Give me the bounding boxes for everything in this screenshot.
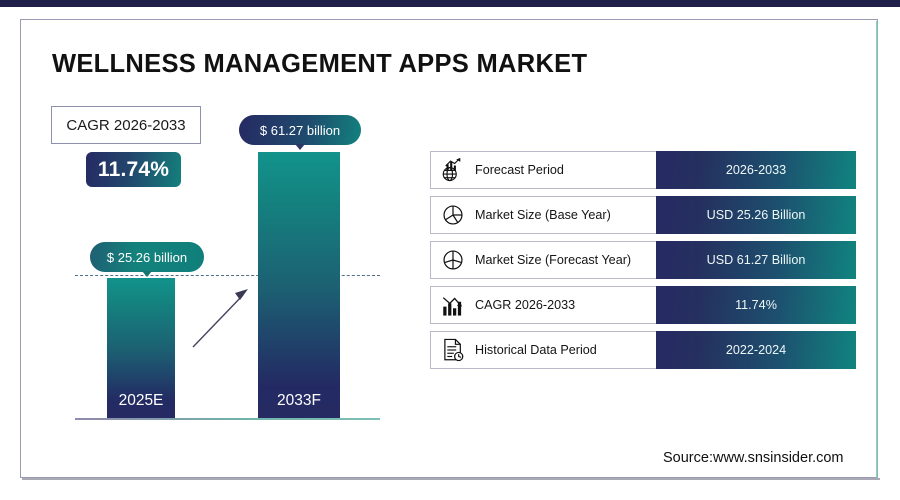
table-row: Forecast Period 2026-2033 [430, 151, 856, 189]
cagr-value-text: 11.74% [98, 158, 169, 182]
bar-label-2033f: 2033F [258, 392, 340, 410]
frame-bottom-shadow [22, 478, 880, 480]
table-row-value: USD 61.27 Billion [656, 241, 856, 279]
globe-growth-icon [440, 157, 466, 183]
table-row-label-cell: Market Size (Forecast Year) [431, 242, 656, 278]
value-pill-2025e-text: $ 25.26 billion [107, 250, 187, 265]
table-row-label: Forecast Period [475, 163, 564, 177]
table-row-label-cell: Historical Data Period [431, 332, 656, 368]
growth-arrow-icon [185, 283, 257, 353]
table-row-label: Historical Data Period [475, 343, 597, 357]
table-row-label-cell: CAGR 2026-2033 [431, 287, 656, 323]
cagr-label-text: CAGR 2026-2033 [66, 117, 185, 134]
chart-baseline-axis [75, 418, 380, 420]
table-row-value: 11.74% [656, 286, 856, 324]
table-row-value: 2026-2033 [656, 151, 856, 189]
table-row-label-cell: Forecast Period [431, 152, 656, 188]
cagr-label-box: CAGR 2026-2033 [51, 106, 201, 144]
table-row-label-cell: Market Size (Base Year) [431, 197, 656, 233]
table-row-label: Market Size (Forecast Year) [475, 253, 631, 267]
table-row: Market Size (Forecast Year) USD 61.27 Bi… [430, 241, 856, 279]
table-row: CAGR 2026-2033 11.74% [430, 286, 856, 324]
table-row-value: 2022-2024 [656, 331, 856, 369]
pie-chart-forecast-icon [440, 247, 466, 273]
table-row-value: USD 25.26 Billion [656, 196, 856, 234]
table-row: Historical Data Period 2022-2024 [430, 331, 856, 369]
key-metrics-table: Forecast Period 2026-2033 Market Size (B… [430, 151, 856, 376]
infographic-root: WELLNESS MANAGEMENT APPS MARKET CAGR 202… [0, 0, 900, 500]
table-row-label: CAGR 2026-2033 [475, 298, 575, 312]
bar-2033f: 2033F [258, 152, 340, 418]
top-color-band [0, 0, 900, 7]
cagr-value-badge: 11.74% [86, 152, 181, 187]
table-row: Market Size (Base Year) USD 25.26 Billio… [430, 196, 856, 234]
bar-2025e: 2025E [107, 278, 175, 418]
document-clock-icon [440, 337, 466, 363]
bar-label-2025e: 2025E [107, 392, 175, 410]
table-row-label: Market Size (Base Year) [475, 208, 611, 222]
source-attribution: Source:www.snsinsider.com [663, 450, 844, 466]
value-pill-2033f: $ 61.27 billion [239, 115, 361, 145]
value-pill-2025e: $ 25.26 billion [90, 242, 204, 272]
value-pill-2033f-text: $ 61.27 billion [260, 123, 340, 138]
frame-right-accent [876, 21, 878, 478]
page-title: WELLNESS MANAGEMENT APPS MARKET [52, 50, 587, 79]
bar-chart-trend-icon [440, 292, 466, 318]
pie-chart-base-icon [440, 202, 466, 228]
